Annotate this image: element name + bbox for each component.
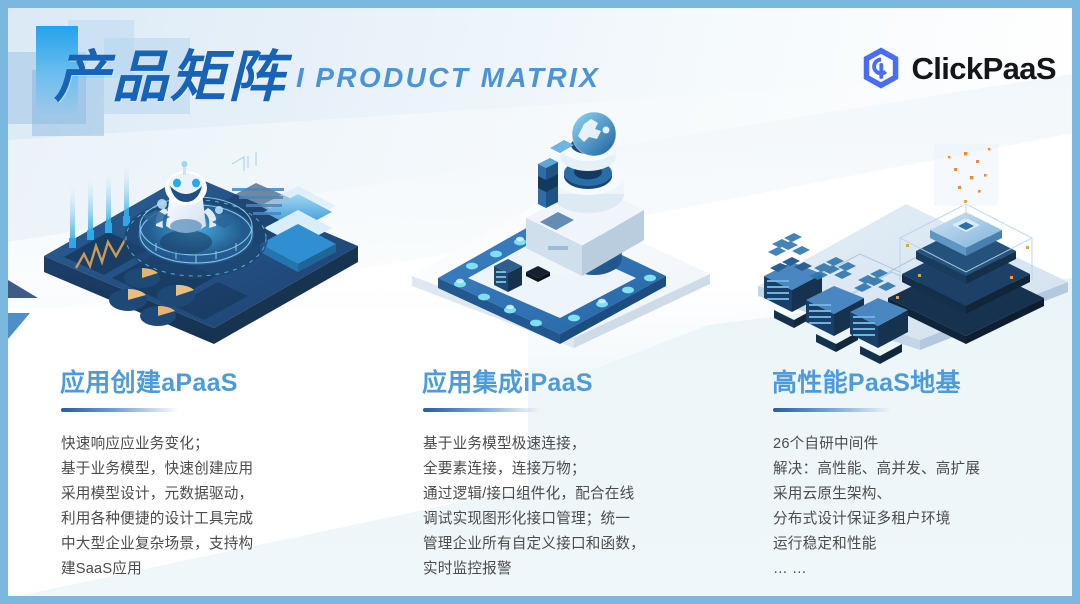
apaas-illustration [36,126,366,341]
column-rule-paas-foundation [773,408,891,412]
column-body-ipaas: 基于业务模型极速连接， 全要素连接，连接万物； 通过逻辑/接口组件化，配合在线 … [423,432,723,582]
column-rule-apaas [61,408,179,412]
column-rule-ipaas [423,408,541,412]
paas-foundation-illustration [748,126,1072,341]
slide-canvas: 产品矩阵 IPRODUCT MATRIX ClickPaaS [8,8,1072,596]
ipaas-illustration [398,126,728,341]
column-heading-apaas: 应用创建aPaaS [60,363,238,399]
robot-dashboard-platform-illustration [36,126,366,341]
product-column-ipaas: 应用集成iPaaS 基于业务模型极速连接， 全要素连接，连接万物； 通过逻辑/接… [398,8,738,596]
column-body-apaas: 快速响应应业务变化； 基于业务模型，快速创建应用 采用模型设计，元数据驱动， 利… [61,432,361,582]
product-column-apaas: 应用创建aPaaS 快速响应应业务变化； 基于业务模型，快速创建应用 采用模型设… [36,8,376,596]
column-heading-ipaas: 应用集成iPaaS [422,363,593,399]
server-racks-datacenter-illustration [748,126,1072,341]
product-columns: 应用创建aPaaS 快速响应应业务变化； 基于业务模型，快速创建应用 采用模型设… [8,8,1072,596]
globe-gear-circuit-platform-illustration [398,126,728,341]
column-heading-paas-foundation: 高性能PaaS地基 [772,363,961,399]
product-column-paas-foundation: 高性能PaaS地基 26个自研中间件 解决：高性能、高并发、高扩展 采用云原生架… [748,8,1072,596]
column-body-paas-foundation: 26个自研中间件 解决：高性能、高并发、高扩展 采用云原生架构、 分布式设计保证… [773,432,1072,582]
slide-frame: 产品矩阵 IPRODUCT MATRIX ClickPaaS [0,0,1080,604]
